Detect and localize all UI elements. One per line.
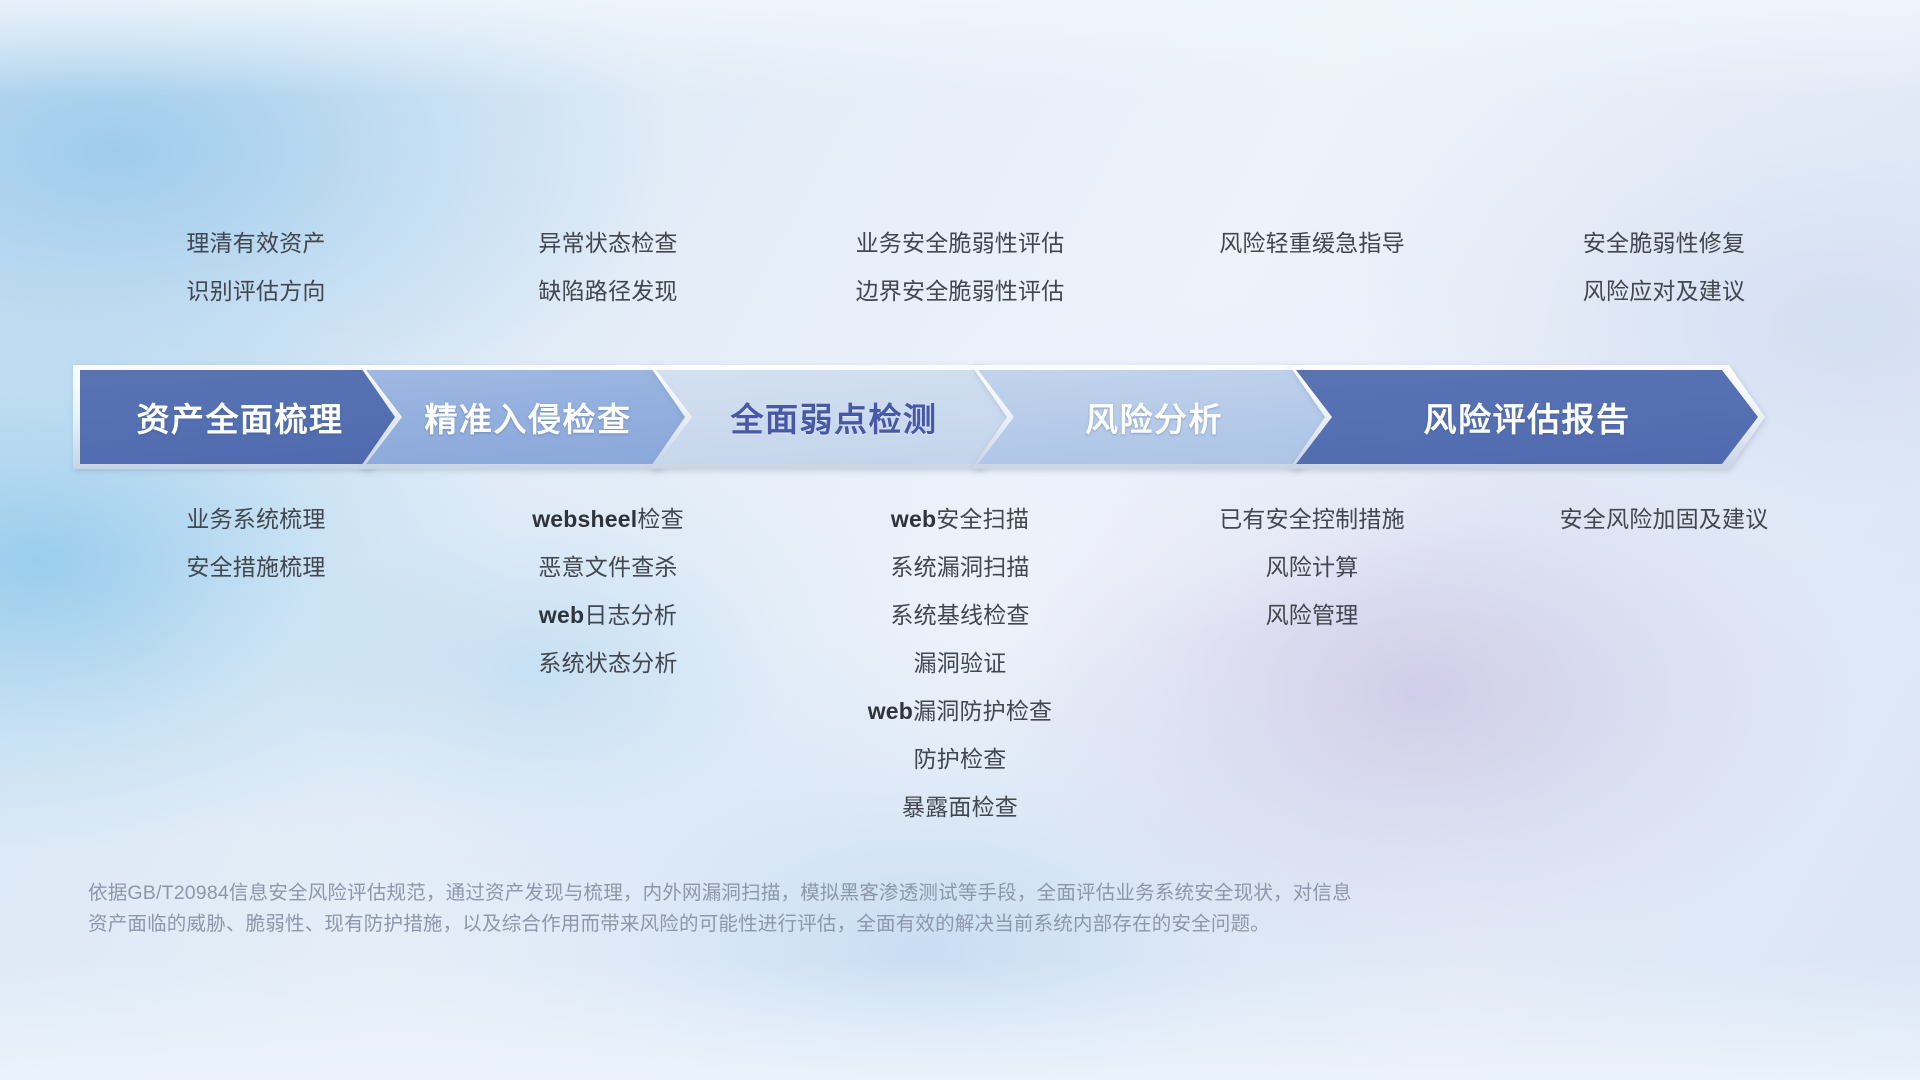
stage-activities-2: websheel检查 恶意文件查杀 web日志分析 系统状态分析 [432,508,784,844]
stage-outputs-4: 风险轻重缓急指导 [1136,232,1488,328]
list-item: 理清有效资产 [80,232,432,255]
list-item: 风险轻重缓急指导 [1136,232,1488,255]
stage-label-3: 全面弱点检测 [731,393,938,441]
list-item: 系统状态分析 [432,652,784,675]
stage-chevron-4[interactable]: 风险分析 [978,370,1330,464]
stage-chevron-1[interactable]: 资产全面梳理 [80,370,400,464]
stage-label-1: 资产全面梳理 [137,393,344,441]
list-item: 暴露面检查 [784,796,1136,819]
stage-activities-3: web安全扫描 系统漏洞扫描 系统基线检查 漏洞验证 web漏洞防护检查 防护检… [784,508,1136,844]
stage-activities-1: 业务系统梳理 安全措施梳理 [80,508,432,844]
list-item: 系统基线检查 [784,604,1136,627]
list-item: 异常状态检查 [432,232,784,255]
list-item: 安全脆弱性修复 [1488,232,1840,255]
stage-label-2: 精准入侵检查 [425,393,632,441]
list-item: 风险计算 [1136,556,1488,579]
stage-label-5: 风险评估报告 [1424,393,1631,441]
list-item: 漏洞验证 [784,652,1136,675]
list-item: 边界安全脆弱性评估 [784,280,1136,303]
list-item: 安全风险加固及建议 [1488,508,1840,531]
stage-activities-4: 已有安全控制措施 风险计算 风险管理 [1136,508,1488,844]
list-item: 风险应对及建议 [1488,280,1840,303]
footer-description: 依据GB/T20984信息安全风险评估规范，通过资产发现与梳理，内外网漏洞扫描，… [88,878,1608,940]
list-item: 业务系统梳理 [80,508,432,531]
list-item: websheel检查 [432,508,784,531]
stage-outputs-5: 安全脆弱性修复 风险应对及建议 [1488,232,1840,328]
stage-outputs-row: 理清有效资产 识别评估方向 异常状态检查 缺陷路径发现 业务安全脆弱性评估 边界… [80,232,1840,328]
stage-activities-5: 安全风险加固及建议 [1488,508,1840,844]
list-item: web安全扫描 [784,508,1136,531]
stage-activities-row: 业务系统梳理 安全措施梳理 websheel检查 恶意文件查杀 web日志分析 … [80,508,1840,844]
stage-outputs-3: 业务安全脆弱性评估 边界安全脆弱性评估 [784,232,1136,328]
list-item: 缺陷路径发现 [432,280,784,303]
process-chevron-band: 资产全面梳理 精准入侵检查 全面弱点检测 风险分析 风险评估报告 [80,370,1860,464]
list-item: web日志分析 [432,604,784,627]
stage-outputs-2: 异常状态检查 缺陷路径发现 [432,232,784,328]
list-item: 已有安全控制措施 [1136,508,1488,531]
stage-chevron-5[interactable]: 风险评估报告 [1296,370,1758,464]
list-item: 业务安全脆弱性评估 [784,232,1136,255]
footer-line: 资产面临的威胁、脆弱性、现有防护措施，以及综合作用而带来风险的可能性进行评估，全… [88,909,1608,940]
list-item: 系统漏洞扫描 [784,556,1136,579]
list-item: 安全措施梳理 [80,556,432,579]
list-item: 防护检查 [784,748,1136,771]
list-item: web漏洞防护检查 [784,700,1136,723]
list-item: 恶意文件查杀 [432,556,784,579]
stage-label-4: 风险分析 [1085,393,1223,441]
list-item: 识别评估方向 [80,280,432,303]
stage-chevron-2[interactable]: 精准入侵检查 [366,370,690,464]
slide-canvas: 理清有效资产 识别评估方向 异常状态检查 缺陷路径发现 业务安全脆弱性评估 边界… [0,0,1920,1080]
footer-line: 依据GB/T20984信息安全风险评估规范，通过资产发现与梳理，内外网漏洞扫描，… [88,878,1608,909]
list-item: 风险管理 [1136,604,1488,627]
stage-chevron-3[interactable]: 全面弱点检测 [656,370,1012,464]
stage-outputs-1: 理清有效资产 识别评估方向 [80,232,432,328]
